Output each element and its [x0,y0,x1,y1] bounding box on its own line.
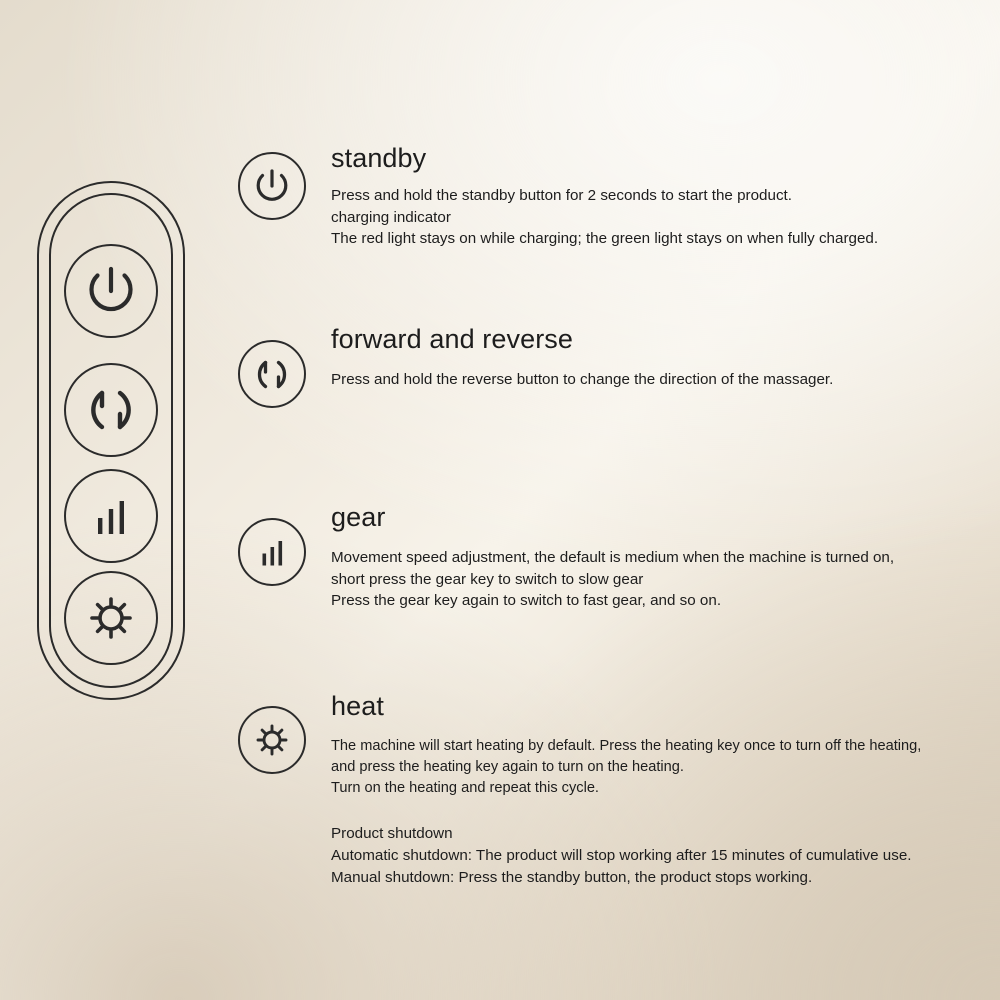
section-title: heat [331,692,1000,722]
forward-reverse-button[interactable] [64,363,158,457]
section-gear: gear Movement speed adjustment, the defa… [331,503,991,612]
section-title: forward and reverse [331,325,981,355]
heat-button[interactable] [64,571,158,665]
product-shutdown-note: Product shutdown Automatic shutdown: The… [331,823,991,889]
bars-level-icon [66,471,156,561]
instruction-diagram: standby Press and hold the standby butto… [0,0,1000,1000]
reverse-loop-icon [240,342,304,406]
section-title: standby [331,144,981,174]
power-icon [66,246,156,336]
section-body: Press and hold the reverse button to cha… [331,369,981,391]
section-body: The machine will start heating by defaul… [331,736,1000,799]
section-body: Press and hold the standby button for 2 … [331,185,981,251]
legend-standby-icon-circle [238,152,306,220]
sun-heat-icon [66,573,156,663]
legend-forward-reverse-icon-circle [238,340,306,408]
section-title: gear [331,503,991,533]
gear-button[interactable] [64,469,158,563]
reverse-loop-icon [66,365,156,455]
massager-remote-control [37,181,187,702]
section-standby: standby Press and hold the standby butto… [331,144,981,250]
bars-level-icon [240,520,304,584]
section-body: Movement speed adjustment, the default i… [331,547,991,613]
power-icon [240,154,304,218]
legend-heat-icon-circle [238,706,306,774]
section-forward-and-reverse: forward and reverse Press and hold the r… [331,325,981,391]
sun-heat-icon [240,708,304,772]
section-heat: heat The machine will start heating by d… [331,692,1000,799]
standby-button[interactable] [64,244,158,338]
legend-gear-icon-circle [238,518,306,586]
